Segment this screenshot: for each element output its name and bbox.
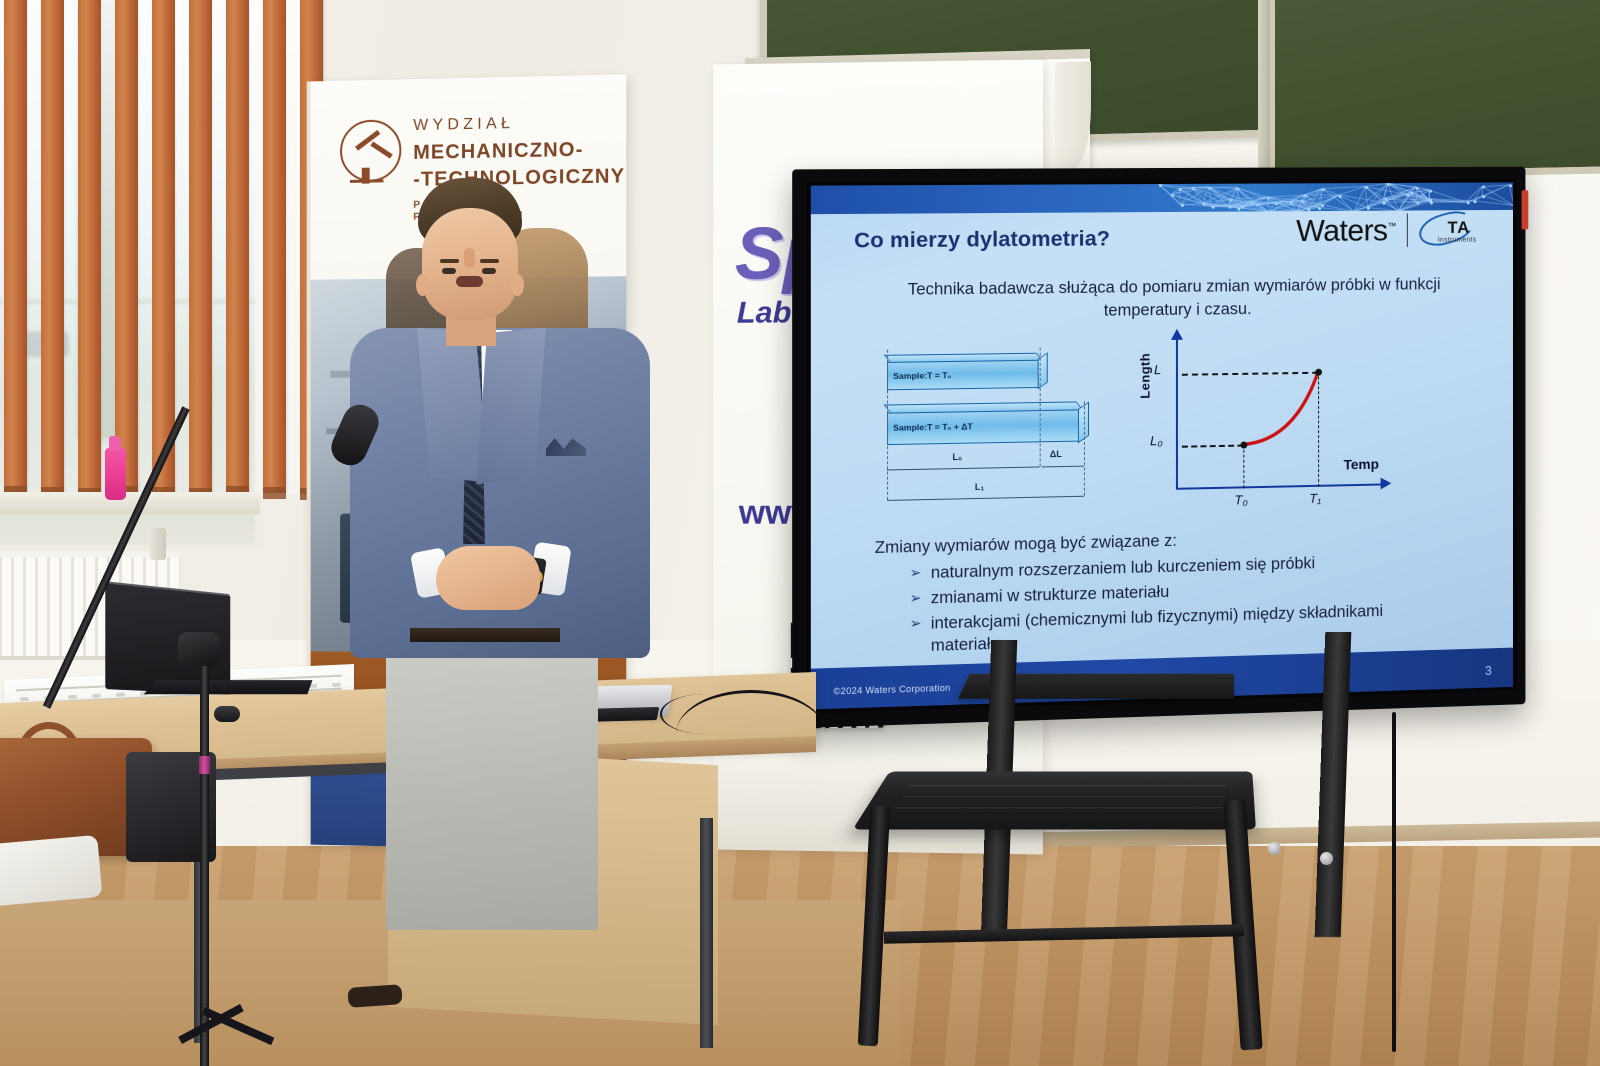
paper-mark xyxy=(92,694,101,698)
desk-leg-right xyxy=(700,818,713,1048)
bullet-chevron-icon: ➢ xyxy=(910,587,922,610)
microphone-height-collar[interactable] xyxy=(199,756,210,774)
network-line xyxy=(1269,211,1297,212)
faculty-line2: MECHANICZNO- xyxy=(413,138,626,165)
dim-label-dL: ΔL xyxy=(1050,449,1062,459)
dim-label-L0: L₀ xyxy=(952,452,962,462)
tv-power-led-icon xyxy=(1522,190,1529,229)
dim-line-dL xyxy=(1042,466,1084,468)
sample-top-label: Sample:T = T₀ xyxy=(893,370,951,381)
microphone-joint[interactable] xyxy=(178,632,220,666)
blind-slat[interactable] xyxy=(78,0,101,494)
sample-expansion-diagram: Sample:T = T₀ Sample:T = T₀ + ΔT L₀ ΔL L… xyxy=(875,343,1108,529)
bullets-intro: Zmiany wymiarów mogą być związane z: xyxy=(875,532,1177,558)
slide-header-band xyxy=(811,182,1513,214)
guide-left xyxy=(887,350,888,500)
presenter-hands xyxy=(436,546,540,610)
blind-gap xyxy=(64,0,78,494)
slide-number: 3 xyxy=(1485,663,1492,678)
presenter-lapel-right xyxy=(476,328,545,484)
ta-initials: TA xyxy=(1448,218,1471,238)
expansion-curve-svg xyxy=(1134,331,1390,525)
tv-power-cable xyxy=(1392,712,1396,1052)
blind-slat[interactable] xyxy=(41,0,64,493)
presenter-shoe xyxy=(347,984,402,1008)
blind-gap xyxy=(27,0,41,494)
waters-name: Waters xyxy=(1296,213,1387,248)
faculty-logo-icon xyxy=(340,119,401,182)
blind-slat[interactable] xyxy=(152,0,175,493)
bullet-chevron-icon: ➢ xyxy=(910,613,922,658)
presenter-nose xyxy=(464,248,475,268)
ta-instruments-label: Instruments xyxy=(1438,237,1476,244)
guide-right xyxy=(1084,401,1085,495)
av-cart-bolt-1 xyxy=(1268,842,1281,855)
presenter-mouth xyxy=(456,276,483,287)
microphone-adjust-knob[interactable] xyxy=(214,706,240,722)
av-cart-bolt-2 xyxy=(1320,852,1333,865)
bullet-chevron-icon: ➢ xyxy=(910,562,922,585)
sample-bottom-label: Sample:T = T₀ + ΔT xyxy=(893,421,973,433)
radiator-pipe xyxy=(150,528,166,560)
paper-mark xyxy=(20,697,29,701)
spray-bottle xyxy=(105,448,126,500)
blind-slat[interactable] xyxy=(115,0,138,492)
blind-gap xyxy=(286,0,300,494)
chart-xtick-T0: T₀ xyxy=(1234,492,1247,507)
chalkboard-divider xyxy=(1258,0,1270,170)
paper-mark xyxy=(116,692,125,696)
length-vs-temp-chart: Length Temp L L₀ T₀ T₁ xyxy=(1134,331,1390,525)
faculty-line1: WYDZIAŁ xyxy=(413,113,626,135)
guide-mid xyxy=(1040,348,1041,467)
brand-separator xyxy=(1406,213,1407,247)
chart-x-axis xyxy=(1176,483,1385,490)
blind-slat[interactable] xyxy=(263,0,286,493)
chart-ytick-L: L xyxy=(1154,362,1161,377)
x-axis-arrow-icon xyxy=(1381,477,1392,489)
display-television[interactable]: Co mierzy dylatometria? Waters™ TA Instr… xyxy=(792,167,1525,729)
laptop-dark-keyboard[interactable] xyxy=(144,680,313,694)
blind-gap xyxy=(101,0,115,494)
waters-wordmark: Waters™ xyxy=(1296,213,1395,249)
blind-slat[interactable] xyxy=(226,0,249,492)
dim-line-L1 xyxy=(887,496,1084,501)
network-line xyxy=(1208,187,1237,189)
presenter-belt xyxy=(410,628,560,642)
chart-ylabel: Length xyxy=(1137,353,1152,399)
chalkboard-right xyxy=(1268,0,1600,180)
chart-xlabel: Temp xyxy=(1344,456,1379,473)
paper-mark xyxy=(68,695,77,699)
white-bag xyxy=(0,835,102,907)
microphone-pole[interactable] xyxy=(200,660,209,1066)
slide-copyright: ©2024 Waters Corporation xyxy=(834,683,951,697)
guide-L0 xyxy=(1182,445,1243,448)
dim-label-L1: L₁ xyxy=(975,482,984,492)
chart-point-T1 xyxy=(1315,369,1322,376)
tv-bezel: Co mierzy dylatometria? Waters™ TA Instr… xyxy=(807,178,1517,713)
bullet-text: zmianami w strukturze materiału xyxy=(931,581,1170,610)
guide-T1 xyxy=(1318,372,1319,487)
dim-line-L0 xyxy=(887,466,1040,470)
slide-screen: Co mierzy dylatometria? Waters™ TA Instr… xyxy=(811,182,1513,709)
av-cart-main-shelf xyxy=(853,772,1256,830)
vertical-blinds[interactable] xyxy=(0,0,290,550)
presenter xyxy=(350,178,650,738)
blind-slat[interactable] xyxy=(189,0,212,494)
guide-T0 xyxy=(1243,445,1244,489)
window-sill xyxy=(0,492,260,514)
chart-point-T0 xyxy=(1240,441,1247,448)
bullet-list: ➢naturalnym rozszerzaniem lub kurczeniem… xyxy=(910,549,1437,661)
presenter-trousers xyxy=(386,630,598,930)
chart-y-axis xyxy=(1176,338,1178,490)
ta-instruments-logo: TA Instruments xyxy=(1418,210,1484,250)
blind-gap xyxy=(249,0,263,494)
waters-brand-logo: Waters™ TA Instruments xyxy=(1296,210,1484,251)
slide-lead-text: Technika badawcza służąca do pomiaru zmi… xyxy=(885,273,1462,326)
chart-xtick-T1: T₁ xyxy=(1309,491,1321,506)
paper-mark xyxy=(332,683,341,687)
blind-slat[interactable] xyxy=(4,0,27,492)
chart-ytick-L0: L₀ xyxy=(1150,433,1163,448)
presentation-room-scene: WYDZIAŁ MECHANICZNO- -TECHNOLOGICZNY POL… xyxy=(0,0,1600,1066)
guide-L xyxy=(1182,372,1318,376)
blind-gap xyxy=(138,0,152,494)
waters-trademark: ™ xyxy=(1388,221,1396,231)
slide-title: Co mierzy dylatometria? xyxy=(854,226,1110,253)
blind-gap xyxy=(212,0,226,494)
